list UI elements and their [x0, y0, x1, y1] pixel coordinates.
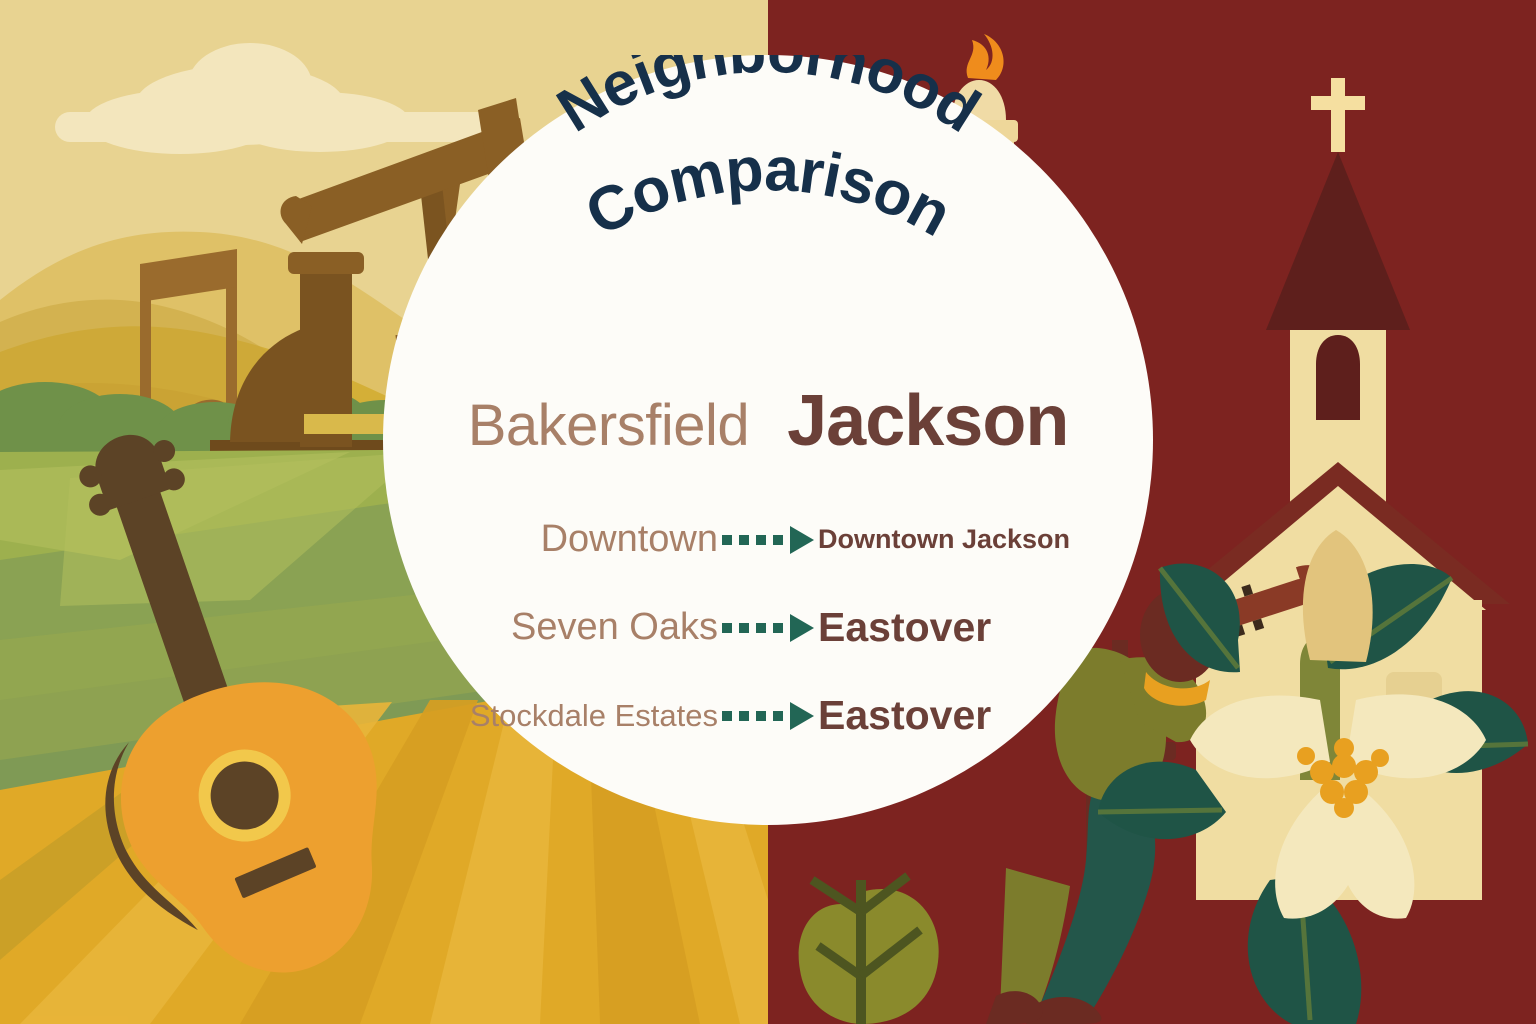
infographic-canvas: Neighborhood Comparison Bakersfield Jack… — [0, 0, 1536, 1024]
white-circle-panel — [383, 55, 1153, 825]
background-illustration — [0, 0, 1536, 1024]
